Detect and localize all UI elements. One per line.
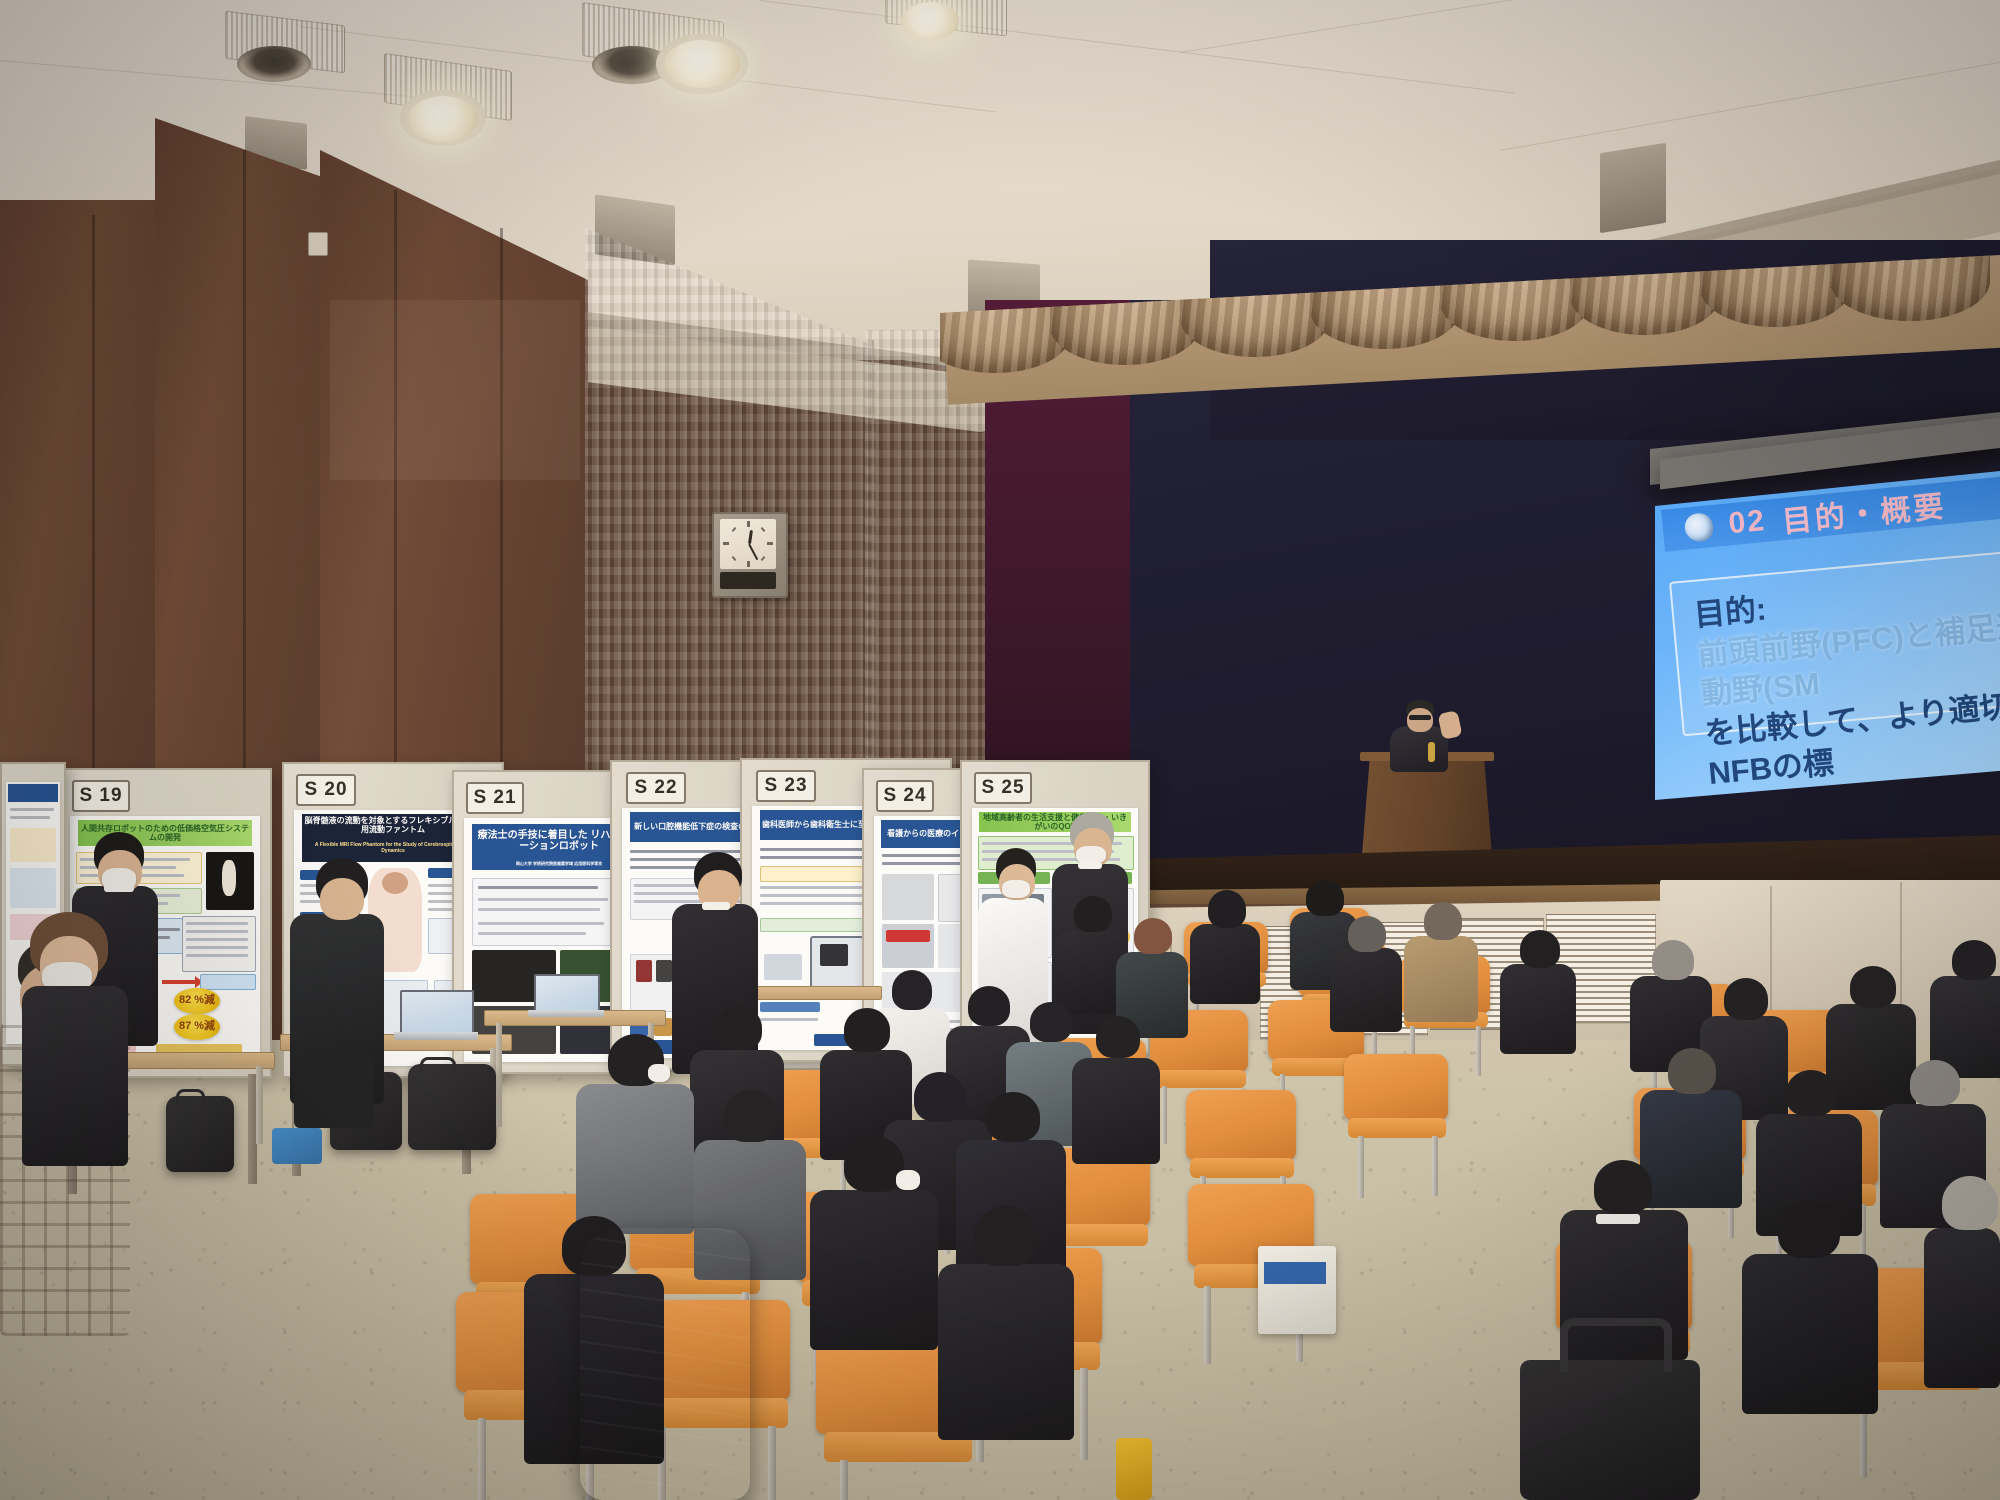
blue-storage-box bbox=[272, 1128, 322, 1164]
slide-body-box: 目的: 前頭前野(PFC)と補足運動野(SM を比較して、より適切なNFBの標 bbox=[1669, 546, 2000, 737]
clock-hour-hand bbox=[748, 530, 753, 544]
microphone bbox=[1428, 742, 1435, 762]
slide-number: 02 bbox=[1727, 504, 1768, 541]
lamp-glow bbox=[408, 96, 478, 142]
lamp-glow bbox=[901, 2, 959, 40]
poster-badge-82: 82 %減 bbox=[174, 988, 220, 1014]
backpack-1 bbox=[166, 1096, 234, 1172]
poster-label-s21: S 21 bbox=[466, 782, 524, 814]
suitcase-label bbox=[1264, 1262, 1326, 1284]
backpack-2 bbox=[408, 1064, 496, 1150]
poster-label-s25: S 25 bbox=[974, 772, 1032, 804]
poster-label-s22: S 22 bbox=[626, 772, 686, 804]
clock-face bbox=[720, 519, 776, 569]
wall-clock bbox=[712, 512, 788, 598]
poster-arrow-s19 bbox=[162, 980, 196, 984]
wall-switch-plate[interactable] bbox=[308, 232, 328, 256]
folding-table-4 bbox=[740, 986, 882, 1000]
poster-label-s23: S 23 bbox=[756, 770, 816, 802]
tote-bag bbox=[1258, 1246, 1336, 1334]
laptop-1[interactable] bbox=[400, 990, 474, 1038]
round-vent bbox=[237, 46, 311, 82]
ceiling-speaker-4 bbox=[1600, 143, 1666, 233]
rolling-suitcase bbox=[1520, 1360, 1700, 1500]
clock-date-window bbox=[720, 572, 776, 589]
clock-minute-hand bbox=[748, 544, 758, 561]
suitcase-handle bbox=[1560, 1318, 1672, 1372]
poster-label-s24: S 24 bbox=[876, 780, 934, 812]
brain-icon bbox=[1684, 512, 1715, 543]
speaker-glasses bbox=[1409, 715, 1431, 720]
floor-marker-cone bbox=[1116, 1438, 1152, 1500]
poster-label-s20: S 20 bbox=[296, 774, 356, 806]
lamp-glow bbox=[664, 40, 740, 88]
down-jacket-on-chair bbox=[580, 1228, 750, 1500]
poster-badge-87: 87 %減 bbox=[174, 1014, 220, 1040]
poster-label-s19: S 19 bbox=[72, 780, 130, 812]
projection-screen: 02 目的・概要 目的: 前頭前野(PFC)と補足運動野(SM を比較して、より… bbox=[1655, 470, 2000, 800]
conference-hall-photo: 02 目的・概要 目的: 前頭前野(PFC)と補足運動野(SM を比較して、より… bbox=[0, 0, 2000, 1500]
